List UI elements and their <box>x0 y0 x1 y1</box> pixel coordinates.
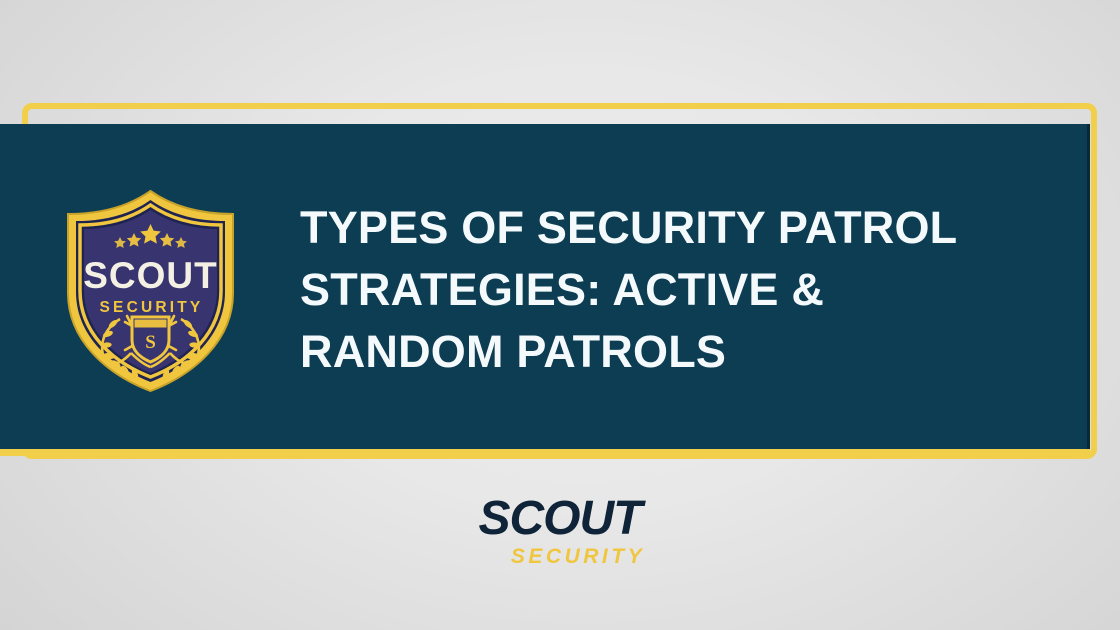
footer-logo-primary-text: SCOUT <box>0 495 1120 543</box>
slide-title: TYPES OF SECURITY PATROL STRATEGIES: ACT… <box>300 197 980 383</box>
footer-logo: SCOUT SECURITY <box>0 495 1120 567</box>
title-block: TYPES OF SECURITY PATROL STRATEGIES: ACT… <box>300 197 1090 383</box>
scout-security-shield-icon: SCOUT SECURITY <box>63 188 238 393</box>
panel-content: SCOUT SECURITY <box>0 124 1090 456</box>
badge-primary-text: SCOUT <box>83 255 218 296</box>
badge-secondary-text: SECURITY <box>99 299 203 316</box>
badge-container: SCOUT SECURITY <box>0 188 300 393</box>
footer-logo-secondary-text: SECURITY <box>36 546 1120 567</box>
presentation-slide: SCOUT SECURITY <box>0 0 1120 630</box>
badge-monogram: S <box>145 332 156 353</box>
